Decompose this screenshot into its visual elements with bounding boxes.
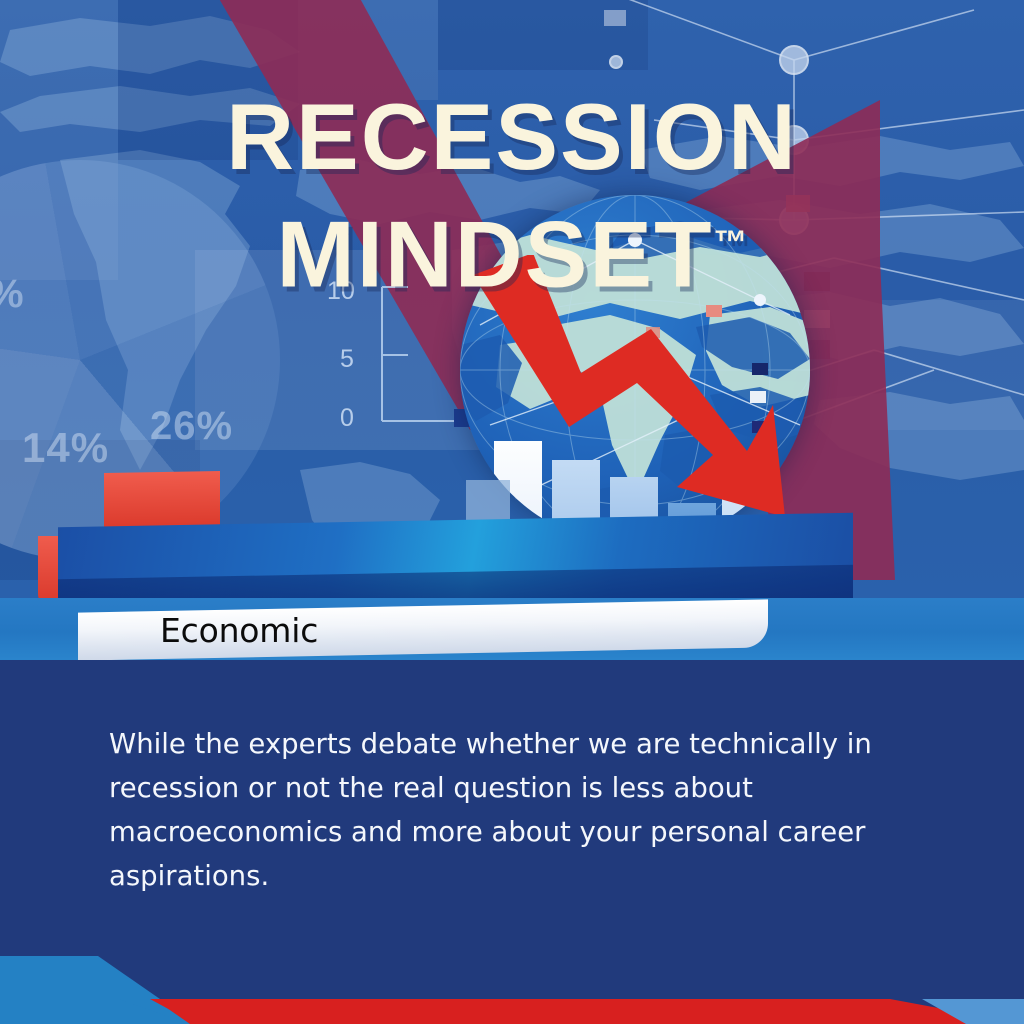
- red-ribbon-top: [104, 471, 220, 529]
- title-line-1: RECESSION: [0, 84, 1024, 190]
- body-paragraph: While the experts debate whether we are …: [109, 722, 974, 898]
- title-line-2: MINDSET: [277, 201, 714, 306]
- trademark-symbol: ™: [714, 224, 748, 262]
- axis-label-5: 5: [340, 345, 354, 374]
- hero-section: 14% 26% %: [0, 0, 1024, 660]
- axis-label-0: 0: [340, 404, 354, 433]
- economic-label: Economic: [160, 606, 560, 654]
- poster-canvas: 14% 26% %: [0, 0, 1024, 1024]
- page-title: RECESSION MINDSET™: [0, 84, 1024, 307]
- bottom-decorative-bands: [0, 914, 1024, 1024]
